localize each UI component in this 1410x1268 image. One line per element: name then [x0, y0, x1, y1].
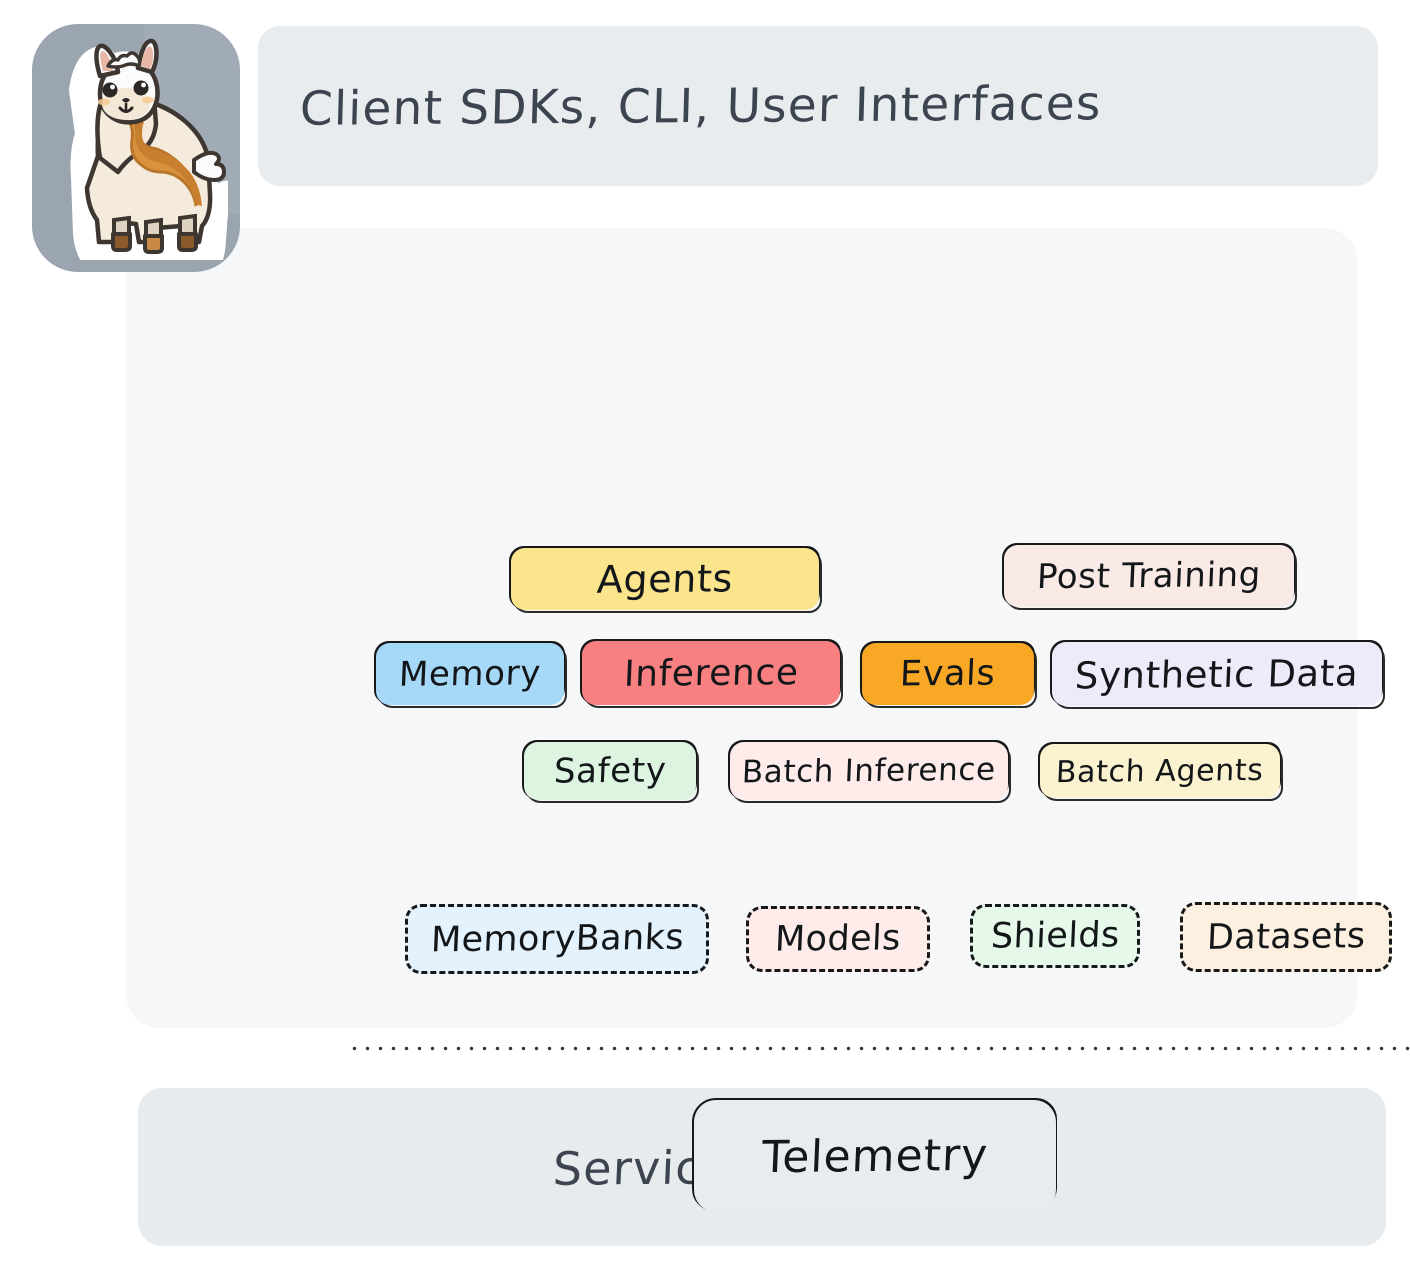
- node-label: Evals: [900, 654, 997, 695]
- node-label: Post Training: [1036, 555, 1262, 597]
- api-node-post-training[interactable]: Post Training: [1004, 545, 1294, 607]
- api-node-batch-agents[interactable]: Batch Agents: [1040, 744, 1280, 798]
- node-label: Inference: [623, 652, 799, 695]
- api-node-batch-inference[interactable]: Batch Inference: [730, 742, 1008, 800]
- node-label: Safety: [553, 750, 667, 791]
- api-node-agents[interactable]: Agents: [511, 548, 819, 610]
- resource-node-label: Shields: [990, 915, 1120, 956]
- node-label: Memory: [398, 653, 542, 694]
- resource-node-models[interactable]: Models: [746, 906, 930, 972]
- node-label: Synthetic Data: [1074, 651, 1359, 697]
- api-node-memory[interactable]: Memory: [376, 643, 564, 705]
- resource-node-label: MemoryBanks: [430, 918, 685, 961]
- telemetry-node[interactable]: Telemetry: [694, 1100, 1056, 1212]
- api-node-inference[interactable]: Inference: [582, 641, 840, 705]
- telemetry-label: Telemetry: [761, 1129, 989, 1182]
- diagram-canvas: Client SDKs, CLI, User Interfaces: [0, 0, 1410, 1268]
- client-layer-bar: Client SDKs, CLI, User Interfaces: [258, 26, 1378, 186]
- client-layer-title: Client SDKs, CLI, User Interfaces: [299, 76, 1102, 137]
- node-label: Batch Agents: [1056, 752, 1265, 789]
- resource-node-label: Datasets: [1206, 916, 1366, 958]
- node-label: Agents: [596, 556, 734, 601]
- dotted-separator: [348, 1046, 1410, 1051]
- llama-illustration-icon: [42, 38, 228, 260]
- resource-node-shields[interactable]: Shields: [970, 904, 1140, 968]
- resource-node-memorybanks[interactable]: MemoryBanks: [405, 904, 709, 974]
- llama-logo-icon: [32, 24, 240, 272]
- node-label: Batch Inference: [741, 752, 996, 791]
- api-node-evals[interactable]: Evals: [862, 643, 1034, 705]
- api-node-synthetic-data[interactable]: Synthetic Data: [1052, 642, 1382, 706]
- resource-node-label: Models: [774, 918, 901, 959]
- api-node-safety[interactable]: Safety: [524, 742, 696, 800]
- api-layer-panel: AgentsPost TrainingMemoryInferenceEvalsS…: [126, 228, 1358, 1028]
- resource-node-datasets[interactable]: Datasets: [1180, 902, 1392, 972]
